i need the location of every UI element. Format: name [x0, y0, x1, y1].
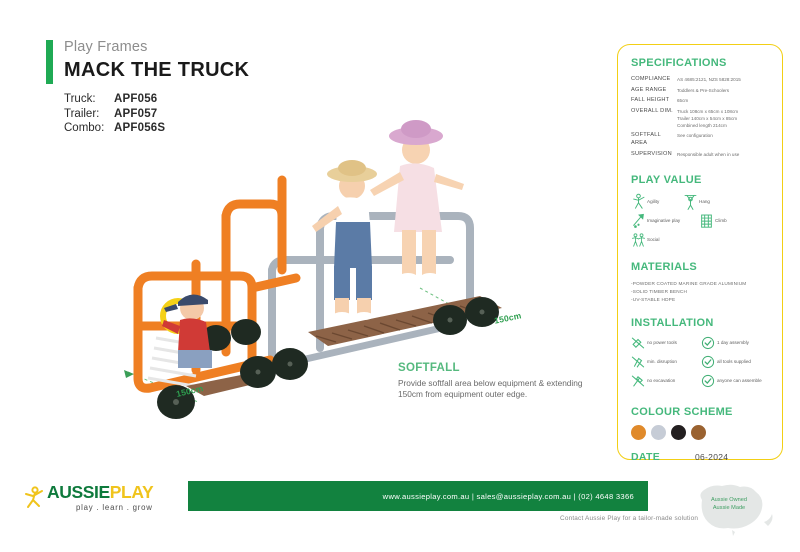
spec-value: AS 4685:2121, NZS 5828:2015 — [677, 76, 771, 87]
softfall-note: SOFTFALL Provide softfall area below equ… — [398, 362, 588, 401]
play-value-item: Social — [631, 231, 677, 248]
colour-swatch — [691, 425, 706, 440]
play-value-item: Agility — [631, 193, 677, 210]
spec-key: OVERALL DIM. — [631, 108, 677, 133]
code-value: APF057 — [114, 107, 157, 122]
colour-swatch — [651, 425, 666, 440]
code-value: APF056 — [114, 92, 157, 107]
date-label: DATE — [631, 451, 695, 463]
title-accent-bar — [46, 40, 53, 84]
play-value-item: Climb — [699, 212, 745, 229]
installation-list: no power tools 1 day assembly min. disru… — [631, 336, 771, 393]
logo-tagline: play . learn . grow — [76, 503, 174, 512]
check-circle-icon — [701, 336, 715, 350]
installation-item: min. disruption — [631, 355, 701, 369]
badge-line-1: Aussie Owned — [704, 497, 754, 505]
installation-label: all tools supplied — [717, 359, 751, 365]
installation-label: no power tools — [647, 340, 677, 346]
play-value-item: Imaginative play — [631, 212, 693, 229]
climb-icon — [699, 212, 714, 229]
spec-value: Toddlers & Pre-Schoolers — [677, 87, 771, 98]
materials-heading: MATERIALS — [631, 261, 771, 273]
play-value-label: Climb — [715, 218, 727, 224]
play-value-label: Social — [647, 237, 660, 243]
code-label: Combo: — [64, 121, 114, 136]
installation-item: all tools supplied — [701, 355, 771, 369]
logo-primary: AUSSIE — [47, 482, 110, 502]
installation-item: anyone can assemble — [701, 374, 771, 388]
check-circle-icon — [701, 355, 715, 369]
badge-text: Aussie Owned Aussie Made — [704, 497, 754, 512]
datasheet-page: Play Frames MACK THE TRUCK Truck: APF056… — [0, 0, 800, 552]
installation-heading: INSTALLATION — [631, 317, 771, 329]
material-item: -POWDER COATED MARINE GRADE ALUMINIUM — [631, 280, 771, 288]
company-logo: AUSSIEPLAY play . learn . grow — [14, 483, 174, 512]
softfall-heading: SOFTFALL — [398, 362, 588, 374]
no-excavation-icon — [631, 374, 645, 388]
material-item: -UV-STABLE HDPE — [631, 296, 771, 304]
product-code-row: Truck: APF056 — [64, 92, 249, 107]
spec-row: FALL HEIGHT 65cm — [631, 97, 771, 108]
code-label: Trailer: — [64, 107, 114, 122]
installation-item: no power tools — [631, 336, 701, 350]
logo-figure-icon — [22, 485, 46, 511]
spec-row: AGE RANGE Toddlers & Pre-Schoolers — [631, 87, 771, 98]
installation-label: anyone can assemble — [717, 378, 762, 384]
spec-key: SOFTFALL AREA — [631, 132, 677, 150]
spec-row: SOFTFALL AREA See configuration — [631, 132, 771, 150]
spec-value: Responsible adult when in use — [677, 151, 771, 162]
contact-bar: www.aussieplay.com.au | sales@aussieplay… — [188, 481, 648, 511]
spec-row: SUPERVISION Responsible adult when in us… — [631, 151, 771, 162]
badge-line-2: Aussie Made — [704, 505, 754, 513]
contact-details: www.aussieplay.com.au | sales@aussieplay… — [383, 481, 634, 511]
installation-label: 1 day assembly — [717, 340, 749, 346]
play-value-list: Agility Hang Imaginative play — [631, 193, 771, 248]
category-kicker: Play Frames — [64, 38, 249, 56]
spec-row: OVERALL DIM. Truck 108cm x 65cm x 108cm … — [631, 108, 771, 133]
installation-item: 1 day assembly — [701, 336, 771, 350]
logo-secondary: PLAY — [110, 482, 153, 502]
social-icon — [631, 231, 646, 248]
play-value-label: Imaginative play — [647, 218, 680, 224]
date-value: 06-2024 — [695, 452, 728, 462]
softfall-body: Provide softfall area below equipment & … — [398, 378, 588, 401]
imaginative-play-icon — [631, 212, 646, 229]
logo-wordmark: AUSSIEPLAY — [47, 483, 174, 502]
date-row: DATE 06-2024 — [631, 451, 771, 463]
spec-value: Truck 108cm x 65cm x 108cm Trailer 140cm… — [677, 108, 771, 133]
spec-key: SUPERVISION — [631, 151, 677, 162]
specifications-heading: SPECIFICATIONS — [631, 57, 771, 69]
spec-value: 65cm — [677, 97, 771, 108]
colour-swatch-list — [631, 425, 771, 440]
spec-row: COMPLIANCE AS 4685:2121, NZS 5828:2015 — [631, 76, 771, 87]
installation-label: no excavation — [647, 378, 675, 384]
materials-list: -POWDER COATED MARINE GRADE ALUMINIUM -S… — [631, 280, 771, 304]
agility-icon — [631, 193, 646, 210]
check-circle-icon — [701, 374, 715, 388]
specifications-table: COMPLIANCE AS 4685:2121, NZS 5828:2015 A… — [631, 76, 771, 161]
play-value-heading: PLAY VALUE — [631, 174, 771, 186]
no-power-tools-icon — [631, 336, 645, 350]
spec-key: COMPLIANCE — [631, 76, 677, 87]
no-disruption-icon — [631, 355, 645, 369]
colour-swatch — [671, 425, 686, 440]
specifications-panel: SPECIFICATIONS COMPLIANCE AS 4685:2121, … — [617, 44, 783, 460]
colour-swatch — [631, 425, 646, 440]
spec-key: AGE RANGE — [631, 87, 677, 98]
play-value-label: Agility — [647, 199, 659, 205]
hang-icon — [683, 193, 698, 210]
code-label: Truck: — [64, 92, 114, 107]
colour-scheme-heading: COLOUR SCHEME — [631, 406, 771, 418]
product-code-row: Trailer: APF057 — [64, 107, 249, 122]
aussie-made-badge: Aussie Owned Aussie Made — [676, 480, 784, 542]
material-item: -SOLID TIMBER BENCH — [631, 288, 771, 296]
play-value-item: Hang — [683, 193, 729, 210]
spec-value: See configuration — [677, 132, 771, 150]
page-title: MACK THE TRUCK — [64, 57, 249, 83]
spec-key: FALL HEIGHT — [631, 97, 677, 108]
play-value-label: Hang — [699, 199, 710, 205]
installation-item: no excavation — [631, 374, 701, 388]
installation-label: min. disruption — [647, 359, 677, 365]
